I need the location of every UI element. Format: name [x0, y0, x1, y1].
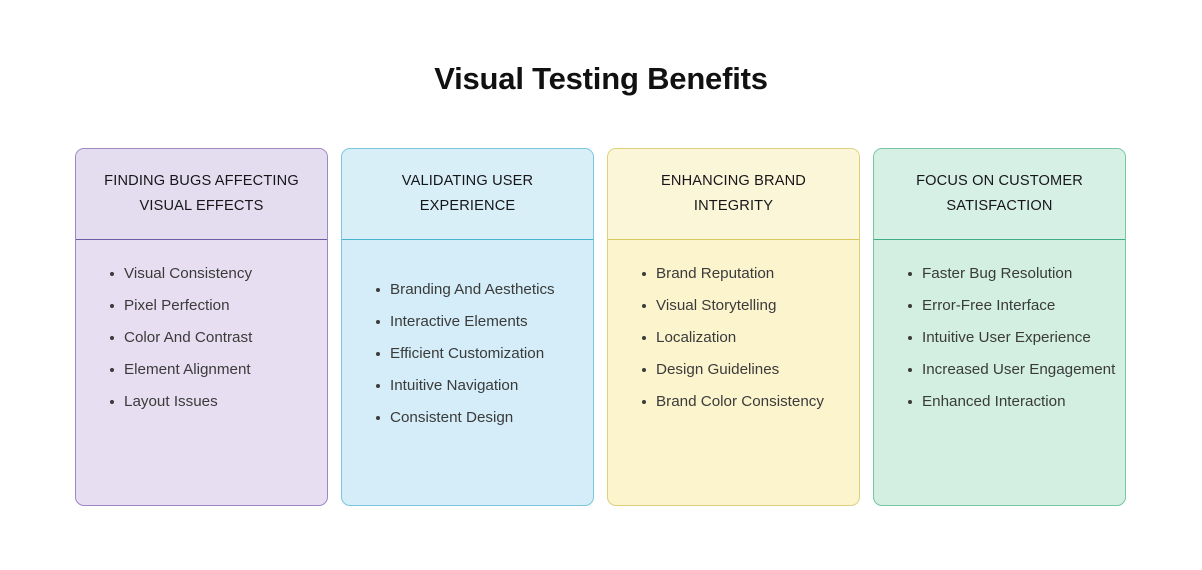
- bullet-dot-icon: [376, 352, 380, 356]
- bullet-dot-icon: [908, 304, 912, 308]
- benefit-card-row: FINDING BUGS AFFECTING VISUAL EFFECTS Vi…: [75, 148, 1128, 508]
- list-item-label: Visual Consistency: [124, 265, 252, 282]
- bullet-dot-icon: [908, 336, 912, 340]
- card-title: FOCUS ON CUSTOMER SATISFACTION: [890, 169, 1109, 219]
- list-item-label: Increased User Engagement: [922, 361, 1115, 378]
- bullet-dot-icon: [376, 416, 380, 420]
- list-item-label: Design Guidelines: [656, 361, 779, 378]
- card-body: Faster Bug Resolution Error-Free Interfa…: [874, 240, 1125, 505]
- list-item-label: Brand Reputation: [656, 265, 774, 282]
- bullet-dot-icon: [376, 384, 380, 388]
- list-item: Layout Issues: [76, 386, 327, 418]
- list-item: Consistent Design: [342, 402, 593, 434]
- bullet-dot-icon: [376, 288, 380, 292]
- list-item: Branding And Aesthetics: [342, 274, 593, 306]
- list-item: Interactive Elements: [342, 306, 593, 338]
- list-item: Intuitive User Experience: [874, 322, 1125, 354]
- card-header: ENHANCING BRAND INTEGRITY: [608, 149, 859, 240]
- bullet-dot-icon: [642, 304, 646, 308]
- card-header: VALIDATING USER EXPERIENCE: [342, 149, 593, 240]
- list-item-label: Error-Free Interface: [922, 297, 1055, 314]
- bullet-dot-icon: [908, 368, 912, 372]
- benefit-list: Brand Reputation Visual Storytelling Loc…: [608, 258, 859, 418]
- card-title: VALIDATING USER EXPERIENCE: [358, 169, 577, 219]
- card-header: FOCUS ON CUSTOMER SATISFACTION: [874, 149, 1125, 240]
- benefit-card-validating-user-experience: VALIDATING USER EXPERIENCE Branding And …: [341, 148, 594, 506]
- list-item: Error-Free Interface: [874, 290, 1125, 322]
- bullet-dot-icon: [110, 304, 114, 308]
- list-item-label: Branding And Aesthetics: [390, 281, 555, 298]
- card-body: Brand Reputation Visual Storytelling Loc…: [608, 240, 859, 505]
- bullet-dot-icon: [376, 320, 380, 324]
- card-title: ENHANCING BRAND INTEGRITY: [624, 169, 843, 219]
- bullet-dot-icon: [642, 400, 646, 404]
- benefit-card-enhancing-brand-integrity: ENHANCING BRAND INTEGRITY Brand Reputati…: [607, 148, 860, 506]
- bullet-dot-icon: [110, 368, 114, 372]
- bullet-dot-icon: [642, 272, 646, 276]
- list-item-label: Efficient Customization: [390, 345, 544, 362]
- list-item: Brand Reputation: [608, 258, 859, 290]
- list-item-label: Intuitive Navigation: [390, 377, 518, 394]
- list-item: Faster Bug Resolution: [874, 258, 1125, 290]
- list-item: Efficient Customization: [342, 338, 593, 370]
- page-title: Visual Testing Benefits: [0, 60, 1202, 98]
- list-item: Increased User Engagement: [874, 354, 1125, 386]
- list-item-label: Element Alignment: [124, 361, 251, 378]
- card-body: Branding And Aesthetics Interactive Elem…: [342, 240, 593, 505]
- bullet-dot-icon: [110, 400, 114, 404]
- benefit-list: Faster Bug Resolution Error-Free Interfa…: [874, 258, 1125, 418]
- benefit-card-focus-on-customer-satisfaction: FOCUS ON CUSTOMER SATISFACTION Faster Bu…: [873, 148, 1126, 506]
- list-item: Visual Consistency: [76, 258, 327, 290]
- list-item-label: Layout Issues: [124, 393, 218, 410]
- list-item-label: Interactive Elements: [390, 313, 528, 330]
- bullet-dot-icon: [908, 272, 912, 276]
- list-item: Visual Storytelling: [608, 290, 859, 322]
- list-item: Pixel Perfection: [76, 290, 327, 322]
- list-item-label: Intuitive User Experience: [922, 329, 1091, 346]
- list-item: Element Alignment: [76, 354, 327, 386]
- benefit-list: Branding And Aesthetics Interactive Elem…: [342, 274, 593, 434]
- list-item: Color And Contrast: [76, 322, 327, 354]
- list-item: Intuitive Navigation: [342, 370, 593, 402]
- benefit-card-finding-bugs-affecting-visual-effects: FINDING BUGS AFFECTING VISUAL EFFECTS Vi…: [75, 148, 328, 506]
- benefit-list: Visual Consistency Pixel Perfection Colo…: [76, 258, 327, 418]
- list-item: Localization: [608, 322, 859, 354]
- list-item-label: Consistent Design: [390, 409, 513, 426]
- list-item: Design Guidelines: [608, 354, 859, 386]
- bullet-dot-icon: [908, 400, 912, 404]
- card-body: Visual Consistency Pixel Perfection Colo…: [76, 240, 327, 505]
- infographic-canvas: Visual Testing Benefits FINDING BUGS AFF…: [0, 0, 1202, 570]
- bullet-dot-icon: [642, 368, 646, 372]
- list-item-label: Enhanced Interaction: [922, 393, 1066, 410]
- list-item: Enhanced Interaction: [874, 386, 1125, 418]
- bullet-dot-icon: [110, 272, 114, 276]
- list-item-label: Brand Color Consistency: [656, 393, 824, 410]
- card-header: FINDING BUGS AFFECTING VISUAL EFFECTS: [76, 149, 327, 240]
- card-title: FINDING BUGS AFFECTING VISUAL EFFECTS: [92, 169, 311, 219]
- list-item-label: Color And Contrast: [124, 329, 252, 346]
- list-item: Brand Color Consistency: [608, 386, 859, 418]
- list-item-label: Pixel Perfection: [124, 297, 230, 314]
- list-item-label: Visual Storytelling: [656, 297, 776, 314]
- list-item-label: Faster Bug Resolution: [922, 265, 1072, 282]
- bullet-dot-icon: [642, 336, 646, 340]
- list-item-label: Localization: [656, 329, 736, 346]
- bullet-dot-icon: [110, 336, 114, 340]
